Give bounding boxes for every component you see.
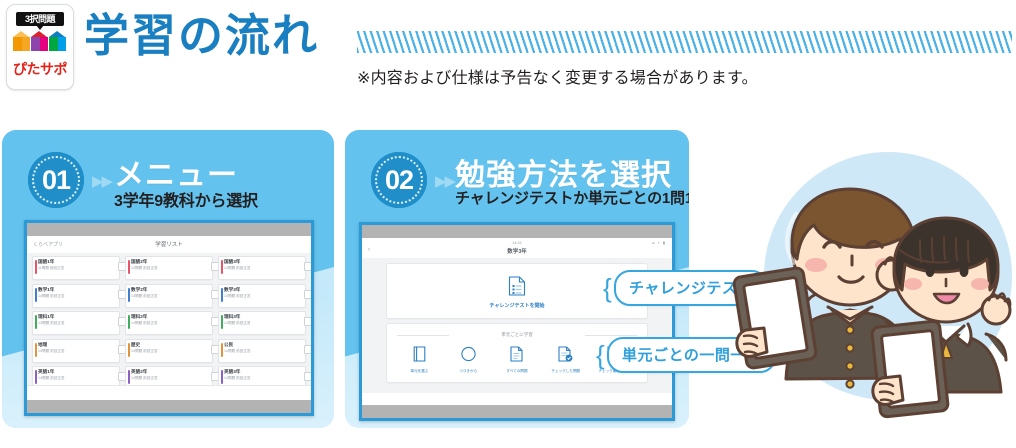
subject-checkbox[interactable] bbox=[304, 372, 311, 381]
subject-accent bbox=[128, 260, 130, 274]
unit-item-caption: チェックした問題 bbox=[544, 369, 588, 374]
subject-detail: 14問題 前回正答 bbox=[131, 265, 200, 271]
subject-accent bbox=[221, 315, 223, 329]
document-icon bbox=[495, 346, 539, 367]
subject-accent bbox=[221, 288, 223, 302]
subject-accent bbox=[221, 370, 223, 384]
subject-card[interactable]: 国語2年14問題 前回正答 bbox=[125, 256, 213, 280]
subject-checkbox[interactable] bbox=[304, 290, 311, 299]
subject-accent bbox=[35, 370, 37, 384]
subject-checkbox[interactable] bbox=[304, 262, 311, 271]
tablet-mockup-method: 14:41 ⊿ ᴛ ▮ ‹ 数学3年 bbox=[359, 222, 675, 421]
students-illustration bbox=[724, 144, 1016, 446]
tablet-bezel-bottom bbox=[27, 400, 311, 413]
unit-item[interactable]: すべての問題 bbox=[495, 346, 539, 374]
subject-detail: 11問題 前回正答 bbox=[38, 265, 107, 271]
cube-magenta-icon bbox=[31, 31, 48, 53]
step-card-01: 01 ▶▶ メニュー 3学年9教科から選択 くらべアプリ 学習リスト 国語1年1… bbox=[2, 130, 334, 428]
book-icon bbox=[397, 346, 441, 367]
subject-card[interactable]: 数学2年14問題 前回正答 bbox=[125, 284, 213, 308]
method-topbar: 14:41 ⊿ ᴛ ▮ ‹ 数学3年 bbox=[362, 238, 672, 258]
subject-detail: 14問題 前回正答 bbox=[38, 375, 107, 381]
menu-topbar: くらべアプリ 学習リスト bbox=[27, 236, 311, 253]
subject-card[interactable]: 理科3年14問題 前回正答 bbox=[218, 311, 306, 335]
subject-detail: 14問題 前回正答 bbox=[131, 375, 200, 381]
unit-item[interactable]: 単元を選ぶ bbox=[397, 346, 441, 374]
unit-section-heading: 単元ごとに学習 bbox=[387, 332, 647, 338]
subject-detail: 14問題 前回正答 bbox=[38, 293, 107, 299]
disclaimer-note: ※内容および仕様は予告なく変更する場合があります。 bbox=[357, 64, 758, 88]
subject-accent bbox=[35, 260, 37, 274]
subject-accent bbox=[128, 288, 130, 302]
document-check-icon bbox=[544, 346, 588, 367]
subject-card[interactable]: 歴史14問題 前回正答 bbox=[125, 339, 213, 363]
status-signal-icon: ⊿ ᴛ ▮ bbox=[651, 240, 666, 245]
subject-grid: 国語1年11問題 前回正答国語2年14問題 前回正答国語3年13問題 前回正答数… bbox=[32, 256, 306, 400]
subject-accent bbox=[221, 343, 223, 357]
tablet-bezel-top bbox=[27, 223, 311, 236]
subject-detail: 14問題 前回正答 bbox=[38, 348, 107, 354]
page-title: 学習の流れ bbox=[84, 8, 319, 64]
tablet-mockup-menu: くらべアプリ 学習リスト 国語1年11問題 前回正答国語2年14問題 前回正答国… bbox=[24, 220, 314, 416]
subject-detail: 14問題 前回正答 bbox=[224, 293, 293, 299]
tablet-screen-method: 14:41 ⊿ ᴛ ▮ ‹ 数学3年 bbox=[362, 238, 672, 405]
tablet-screen-menu: くらべアプリ 学習リスト 国語1年11問題 前回正答国語2年14問題 前回正答国… bbox=[27, 236, 311, 400]
subject-accent bbox=[128, 315, 130, 329]
chevron-right-icon: ▶▶ bbox=[435, 172, 454, 190]
unit-item-caption: つづきから bbox=[446, 369, 490, 374]
subject-card[interactable]: 国語3年13問題 前回正答 bbox=[218, 256, 306, 280]
cube-orange-icon bbox=[13, 31, 30, 53]
method-screen-title: 数学3年 bbox=[362, 247, 672, 255]
subject-accent bbox=[35, 315, 37, 329]
subject-checkbox[interactable] bbox=[304, 317, 311, 326]
subject-detail: 13問題 前回正答 bbox=[224, 265, 293, 271]
logo-badge: 3択問題 bbox=[16, 12, 64, 26]
subject-card[interactable]: 理科2年14問題 前回正答 bbox=[125, 311, 213, 335]
chevron-right-icon: ▶▶ bbox=[92, 172, 111, 190]
subject-accent bbox=[35, 288, 37, 302]
unit-item-caption: 単元を選ぶ bbox=[397, 369, 441, 374]
step-subtitle: 3学年9教科から選択 bbox=[114, 187, 258, 211]
cube-blue-icon bbox=[49, 31, 66, 53]
step-subtitle: チャレンジテストか単元ごとの1問1答 bbox=[455, 187, 689, 208]
subject-card[interactable]: 公民14問題 前回正答 bbox=[218, 339, 306, 363]
step-number-badge: 02 bbox=[371, 152, 427, 208]
tablet-bezel-bottom bbox=[362, 405, 672, 418]
app-logo: 3択問題 ぴたサポ bbox=[6, 4, 74, 90]
method-footer bbox=[362, 393, 672, 405]
status-time: 14:41 bbox=[362, 240, 672, 245]
logo-cubes bbox=[13, 31, 67, 57]
subject-detail: 13問題 前回正答 bbox=[38, 320, 107, 326]
unit-item[interactable]: つづきから bbox=[446, 346, 490, 374]
hatch-decoration bbox=[357, 31, 1012, 53]
subject-accent bbox=[128, 343, 130, 357]
unit-item[interactable]: チェックした問題 bbox=[544, 346, 588, 374]
subject-card[interactable]: 理科1年13問題 前回正答 bbox=[32, 311, 120, 335]
subject-checkbox[interactable] bbox=[304, 345, 311, 354]
step-number-badge: 01 bbox=[28, 152, 84, 208]
subject-detail: 14問題 前回正答 bbox=[131, 293, 200, 299]
challenge-test-label: チャレンジテストを開始 bbox=[387, 302, 647, 309]
subject-detail: 14問題 前回正答 bbox=[224, 320, 293, 326]
menu-footer bbox=[27, 385, 311, 400]
subject-card[interactable]: 数学3年14問題 前回正答 bbox=[218, 284, 306, 308]
subject-card[interactable]: 地理14問題 前回正答 bbox=[32, 339, 120, 363]
unit-item-caption: すべての問題 bbox=[495, 369, 539, 374]
subject-detail: 14問題 前回正答 bbox=[224, 348, 293, 354]
logo-brand-text: ぴたサポ bbox=[7, 59, 73, 79]
subject-detail: 14問題 前回正答 bbox=[224, 375, 293, 381]
subject-detail: 14問題 前回正答 bbox=[131, 320, 200, 326]
subject-card[interactable]: 国語1年11問題 前回正答 bbox=[32, 256, 120, 280]
moon-icon bbox=[446, 346, 490, 367]
tablet-bezel-top bbox=[362, 225, 672, 238]
subject-card[interactable]: 数学1年14問題 前回正答 bbox=[32, 284, 120, 308]
subject-detail: 14問題 前回正答 bbox=[131, 348, 200, 354]
subject-accent bbox=[221, 260, 223, 274]
subject-accent bbox=[35, 343, 37, 357]
subject-accent bbox=[128, 370, 130, 384]
document-list-icon bbox=[509, 276, 526, 301]
menu-screen-title: 学習リスト bbox=[27, 240, 311, 248]
